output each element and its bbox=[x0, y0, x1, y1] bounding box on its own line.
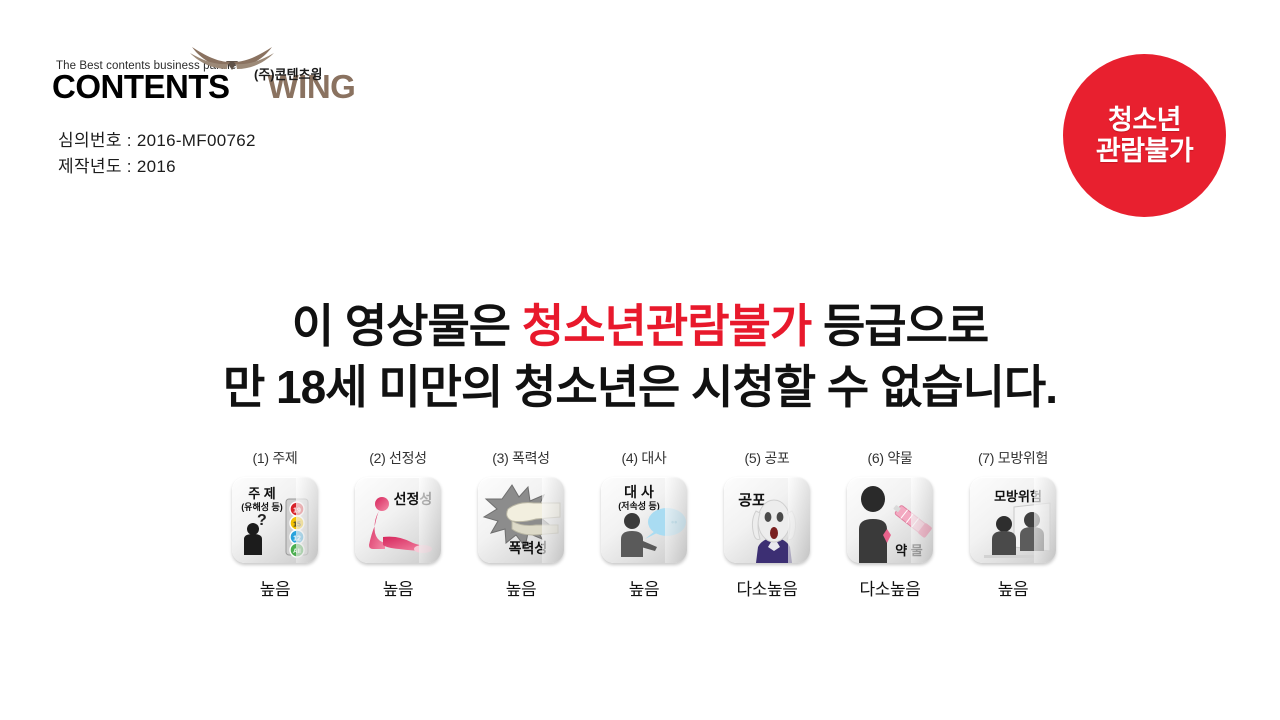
headline-accent-text: 청소년관람불가 bbox=[522, 300, 811, 352]
rating-caption-dialogue: (4) 대사 bbox=[622, 448, 667, 468]
dialogue-icon: 대 사 (저속성 등) •• bbox=[601, 477, 687, 563]
header-block: The Best contents business partner CONTE… bbox=[52, 52, 472, 179]
rating-column-sexuality: (2) 선정성 선정성 높음 bbox=[339, 448, 457, 600]
theme-icon: 주 제 (유해성 등) ? 19 15 12 All bbox=[232, 477, 318, 563]
review-metadata: 심의번호 : 2016-MF00762 제작년도 : 2016 bbox=[58, 128, 472, 179]
svg-text:모방위험: 모방위험 bbox=[994, 489, 1042, 504]
review-number: 심의번호 : 2016-MF00762 bbox=[58, 128, 472, 154]
headline-line-2: 만 18세 미만의 청소년은 시청할 수 없습니다. bbox=[0, 357, 1280, 418]
rating-level-violence: 높음 bbox=[506, 575, 536, 600]
contents-wing-logo: The Best contents business partner CONTE… bbox=[52, 52, 342, 114]
rating-headline: 이 영상물은 청소년관람불가 등급으로 만 18세 미만의 청소년은 시청할 수… bbox=[0, 296, 1280, 417]
rating-caption-horror: (5) 공포 bbox=[745, 448, 790, 468]
violence-icon: 폭력성 bbox=[478, 477, 564, 563]
rating-level-drug: 다소높음 bbox=[860, 575, 921, 600]
rating-column-dialogue: (4) 대사 대 사 (저속성 등) •• 높음 bbox=[585, 448, 703, 600]
rating-caption-violence: (3) 폭력성 bbox=[492, 448, 550, 468]
logo-word-contents: CONTENTS bbox=[52, 68, 230, 105]
svg-text:공포: 공포 bbox=[738, 492, 766, 509]
drug-icon: 약 물 bbox=[847, 477, 933, 563]
rating-column-drug: (6) 약물 약 물 다소높음 bbox=[831, 448, 949, 600]
rating-badge-line-2: 관람불가 bbox=[1096, 136, 1193, 166]
rating-level-horror: 다소높음 bbox=[737, 575, 798, 600]
horror-icon: 공포 bbox=[724, 477, 810, 563]
svg-text:All: All bbox=[293, 549, 301, 555]
rating-column-violence: (3) 폭력성 폭력성 높음 bbox=[462, 448, 580, 600]
svg-text:(저속성 등): (저속성 등) bbox=[618, 500, 660, 511]
rating-caption-drug: (6) 약물 bbox=[868, 448, 913, 468]
rating-level-sexuality: 높음 bbox=[383, 575, 413, 600]
rating-column-horror: (5) 공포 공포 다소높음 bbox=[708, 448, 826, 600]
corporate-name: (주)콘텐츠윙 bbox=[254, 64, 322, 83]
rating-caption-sexuality: (2) 선정성 bbox=[369, 448, 427, 468]
svg-text:(유해성 등): (유해성 등) bbox=[241, 501, 283, 512]
svg-text:주 제: 주 제 bbox=[248, 486, 276, 501]
imitation-risk-icon: 모방위험 bbox=[970, 477, 1056, 563]
rating-column-imitation-risk: (7) 모방위험 모방위험 높음 bbox=[954, 448, 1072, 600]
rating-badge-line-1: 청소년 bbox=[1108, 105, 1181, 135]
svg-text:19: 19 bbox=[293, 508, 301, 515]
svg-text:••: •• bbox=[671, 517, 677, 527]
headline-text-before: 이 영상물은 bbox=[292, 300, 522, 352]
rating-column-theme: (1) 주제 주 제 (유해성 등) ? 19 15 12 All 높음 bbox=[216, 448, 334, 600]
svg-text:선정성: 선정성 bbox=[394, 491, 433, 507]
rating-level-theme: 높음 bbox=[260, 575, 290, 600]
svg-text:?: ? bbox=[257, 512, 267, 529]
rating-badge: 청소년 관람불가 bbox=[1063, 54, 1226, 217]
svg-text:12: 12 bbox=[293, 536, 301, 543]
rating-category-grid: (1) 주제 주 제 (유해성 등) ? 19 15 12 All 높음 (2 bbox=[216, 448, 1072, 600]
svg-text:폭력성: 폭력성 bbox=[509, 540, 548, 556]
rating-level-imitation-risk: 높음 bbox=[998, 575, 1028, 600]
production-year: 제작년도 : 2016 bbox=[58, 154, 472, 180]
headline-line-1: 이 영상물은 청소년관람불가 등급으로 bbox=[0, 296, 1280, 357]
rating-level-dialogue: 높음 bbox=[629, 575, 659, 600]
rating-caption-theme: (1) 주제 bbox=[253, 448, 298, 468]
svg-text:대 사: 대 사 bbox=[624, 484, 654, 500]
sexuality-icon: 선정성 bbox=[355, 477, 441, 563]
rating-caption-imitation-risk: (7) 모방위험 bbox=[978, 448, 1048, 468]
svg-text:15: 15 bbox=[293, 522, 301, 529]
svg-text:약 물: 약 물 bbox=[895, 543, 923, 558]
headline-text-after: 등급으로 bbox=[811, 300, 988, 352]
